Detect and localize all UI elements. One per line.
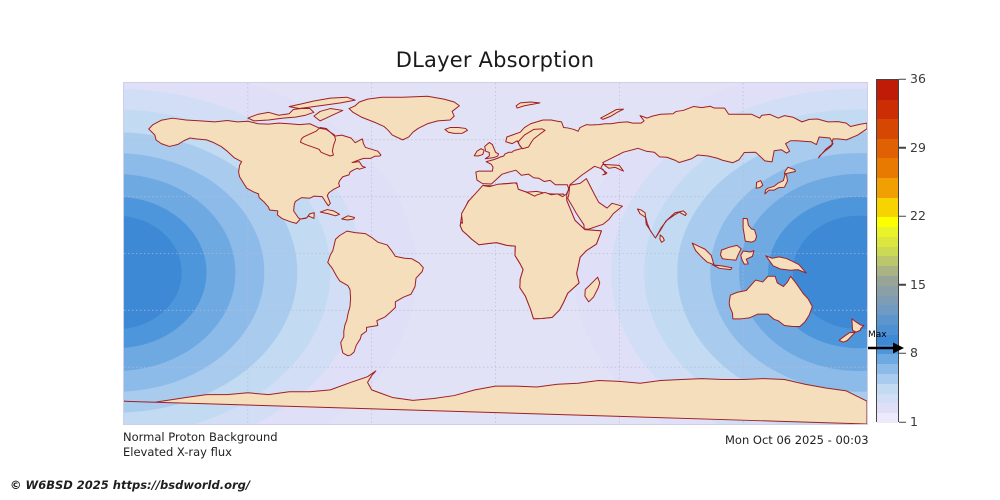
colorbar-band [877, 374, 898, 384]
tick-label: 22 [910, 210, 926, 223]
colorbar-band [877, 247, 898, 257]
status-note-proton: Normal Proton Background [123, 431, 278, 443]
colorbar-band [877, 237, 898, 247]
colorbar-band [877, 119, 898, 139]
colorbar-band [877, 80, 898, 100]
colorbar-band [877, 100, 898, 120]
colorbar-band [877, 384, 898, 394]
world-map-svg [124, 83, 867, 424]
colorbar-band [877, 227, 898, 237]
colorbar-band [877, 178, 898, 198]
colorbar-tick: 36 [899, 73, 926, 86]
colorbar-axis-label: Affected Frequency (MHz) [925, 79, 1000, 422]
colorbar-band [877, 413, 898, 423]
colorbar-tick: 29 [899, 141, 926, 154]
colorbar-band [877, 354, 898, 364]
tick-label: 15 [910, 279, 926, 292]
page-title: DLayer Absorption [0, 48, 990, 72]
tick-label: 8 [910, 347, 918, 360]
colorbar-band [877, 266, 898, 276]
tick-label: 1 [910, 416, 918, 429]
tick-dash [899, 284, 906, 286]
colorbar-band [877, 158, 898, 178]
colorbar-tick: 22 [899, 210, 926, 223]
tick-dash [899, 421, 906, 423]
colorbar-band [877, 403, 898, 413]
tick-label: 36 [910, 73, 926, 86]
world-map-panel[interactable] [123, 82, 868, 425]
tick-dash [899, 78, 906, 80]
colorbar-band [877, 394, 898, 404]
colorbar-band [877, 315, 898, 325]
dlayer-absorption-page: DLayer Absorption 3629221581 Affected Fr… [0, 0, 1000, 500]
tick-dash [899, 215, 906, 217]
colorbar-band [877, 217, 898, 227]
colorbar-band [877, 364, 898, 374]
copyright-footer: © W6BSD 2025 https://bsdworld.org/ [10, 478, 250, 492]
colorbar-band [877, 296, 898, 306]
colorbar-band [877, 276, 898, 286]
colorbar-band [877, 325, 898, 335]
timestamp: Mon Oct 06 2025 - 00:03 [725, 433, 869, 447]
tick-dash [899, 353, 906, 355]
colorbar-band [877, 345, 898, 355]
colorbar-band [877, 286, 898, 296]
colorbar[interactable] [876, 79, 899, 422]
tick-label: 29 [910, 141, 926, 154]
colorbar-tick: 1 [899, 416, 918, 429]
colorbar-band [877, 139, 898, 159]
colorbar-band [877, 335, 898, 345]
colorbar-band [877, 198, 898, 218]
colorbar-band [877, 256, 898, 266]
colorbar-tick: 8 [899, 347, 918, 360]
landmass-polygon [445, 128, 468, 134]
tick-dash [899, 147, 906, 149]
colorbar-band [877, 305, 898, 315]
colorbar-gradient [877, 80, 898, 421]
status-note-xray: Elevated X-ray flux [123, 446, 232, 458]
colorbar-tick: 15 [899, 279, 926, 292]
